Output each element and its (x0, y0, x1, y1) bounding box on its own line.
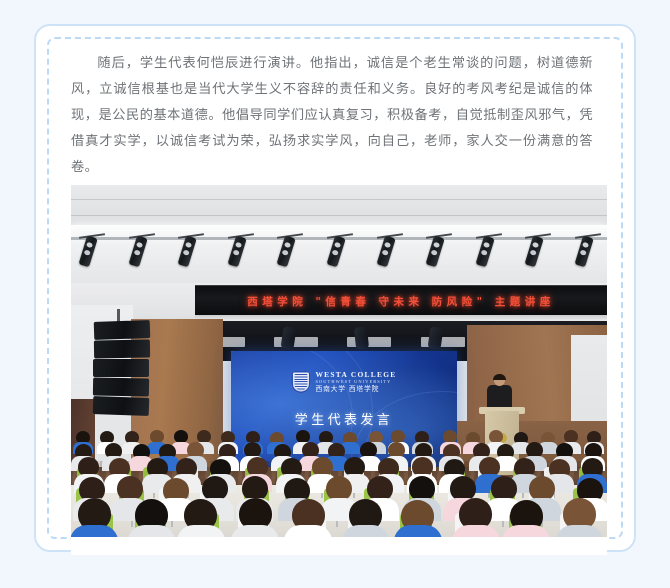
audience-shoulders (231, 525, 279, 537)
audience-shoulders (128, 525, 176, 537)
speaker-box (93, 396, 150, 416)
audience-head (564, 430, 578, 443)
dashed-frame: 随后，学生代表何恺辰进行演讲。他指出，诚信是个老生常谈的问题，树道德新风，立诚信… (47, 37, 623, 539)
light-shelf (347, 337, 391, 347)
card-bottom-spacer (71, 537, 607, 555)
led-banner-text: 西塔学院 "信青春 守未来 防风险" 主题讲座 (247, 294, 555, 309)
page-root: 随后，学生代表何恺辰进行演讲。他指出，诚信是个老生常谈的问题，树道德新风，立诚信… (0, 0, 670, 588)
audience-shoulders (342, 525, 390, 537)
ceiling-seam (71, 215, 607, 216)
audience-head (326, 476, 352, 501)
speaker-box (94, 340, 150, 359)
photo-scene: 西塔学院 "信青春 守未来 防风险" 主题讲座 (71, 185, 607, 537)
audience-head (197, 430, 211, 443)
person-hair (493, 374, 506, 380)
led-banner: 西塔学院 "信青春 守未来 防风险" 主题讲座 (195, 285, 607, 316)
logo-english-line2: SOUTHWEST UNIVERSITY (315, 380, 396, 384)
audience-shoulders (556, 525, 604, 537)
audience-head (150, 430, 164, 443)
logo-chinese: 西南大学 西塔学院 (315, 386, 396, 393)
audience-shoulders (284, 525, 332, 537)
logo-text-block: WESTA COLLEGE SOUTHWEST UNIVERSITY 西南大学 … (315, 371, 396, 393)
speaker-box (94, 320, 151, 340)
audience-shoulders (177, 525, 225, 537)
speaker-box (93, 378, 149, 397)
audience-shoulders (71, 525, 118, 537)
audience-shoulders (394, 525, 442, 537)
ceiling-seam (71, 199, 607, 200)
audience-area (71, 425, 607, 537)
westa-college-logo: WESTA COLLEGE SOUTHWEST UNIVERSITY 西南大学 … (291, 371, 396, 393)
logo-english-line1: WESTA COLLEGE (315, 371, 396, 378)
content-card: 随后，学生代表何恺辰进行演讲。他指出，诚信是个老生常谈的问题，树道德新风，立诚信… (34, 24, 636, 552)
soffit-light (427, 326, 443, 350)
soffit-light (354, 326, 369, 349)
article-paragraph: 随后，学生代表何恺辰进行演讲。他指出，诚信是个老生常谈的问题，树道德新风，立诚信… (71, 51, 593, 181)
line-array-speaker (93, 321, 151, 425)
article-body: 随后，学生代表何恺辰进行演讲。他指出，诚信是个老生常谈的问题，树道德新风，立诚信… (71, 51, 593, 181)
audience-shoulders (502, 525, 550, 537)
speaker-box (93, 359, 149, 377)
audience-shoulders (452, 525, 500, 537)
audience-head (491, 476, 517, 501)
crest-icon (291, 371, 310, 393)
lecture-photo: 西塔学院 "信青春 守未来 防风险" 主题讲座 (71, 185, 607, 537)
